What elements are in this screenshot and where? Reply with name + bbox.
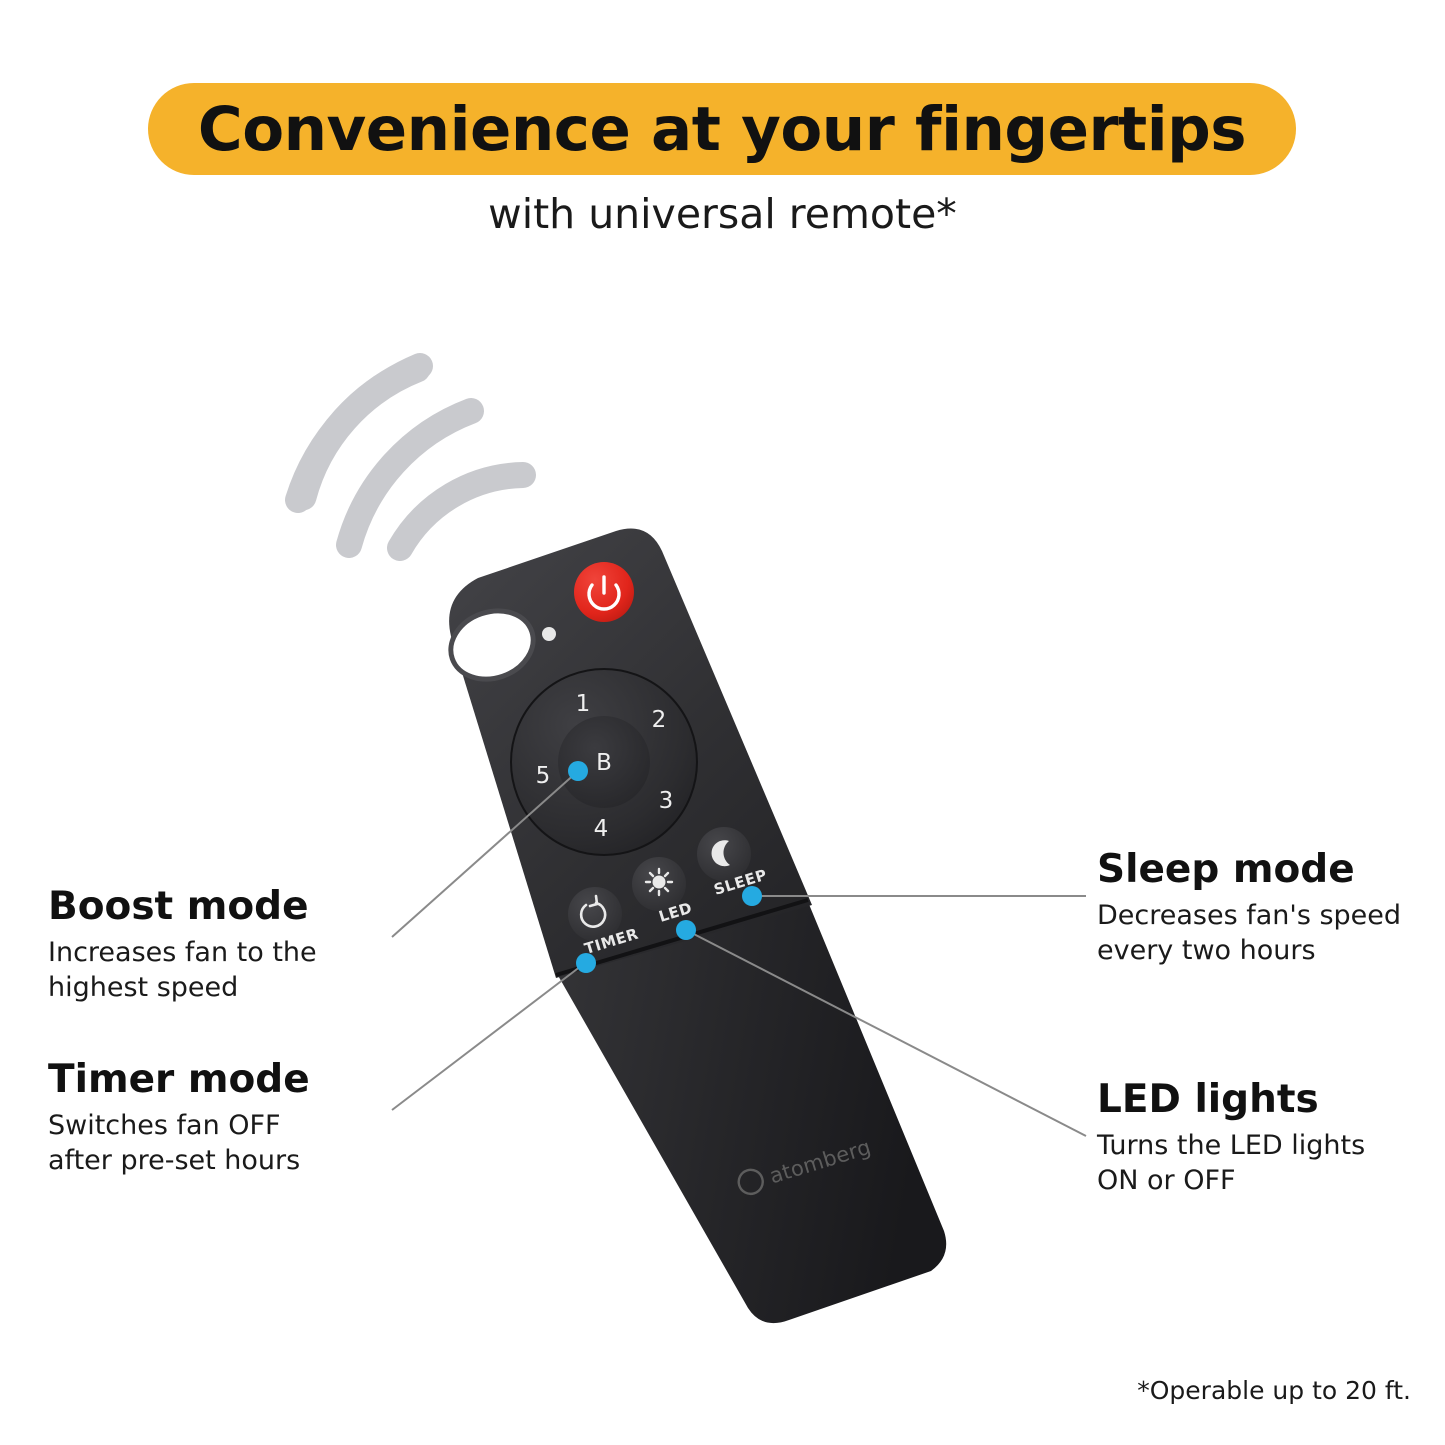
footnote: *Operable up to 20 ft.: [1137, 1376, 1411, 1405]
callout-boost-desc-line2: highest speed: [48, 970, 317, 1006]
callout-sleep-desc-line1: Decreases fan's speed: [1097, 898, 1401, 934]
callout-sleep-desc-line2: every two hours: [1097, 933, 1401, 969]
speed-label-1: 1: [576, 691, 591, 717]
speed-label-2: 2: [652, 707, 667, 733]
status-led-indicator: [542, 627, 556, 641]
callout-timer-desc-line1: Switches fan OFF: [48, 1108, 310, 1144]
remote-illustration: B 1 2 3 4 5 TIMER LED: [0, 0, 1445, 1445]
speed-label-3: 3: [659, 788, 674, 814]
callout-boost-mode: Boost mode Increases fan to the highest …: [48, 885, 317, 1006]
callout-led-title: LED lights: [1097, 1078, 1365, 1122]
speed-label-4: 4: [594, 816, 609, 842]
callout-boost-desc-line1: Increases fan to the: [48, 935, 317, 971]
callout-timer-title: Timer mode: [48, 1058, 310, 1102]
marker-boost: [568, 761, 588, 781]
callout-led-desc-line1: Turns the LED lights: [1097, 1128, 1365, 1164]
callout-led-lights: LED lights Turns the LED lights ON or OF…: [1097, 1078, 1365, 1199]
callout-timer-mode: Timer mode Switches fan OFF after pre-se…: [48, 1058, 310, 1179]
callout-sleep-mode: Sleep mode Decreases fan's speed every t…: [1097, 848, 1401, 969]
callout-led-desc-line2: ON or OFF: [1097, 1163, 1365, 1199]
marker-led: [676, 920, 696, 940]
infographic-page: Convenience at your fingertips with univ…: [0, 0, 1445, 1445]
callout-sleep-title: Sleep mode: [1097, 848, 1401, 892]
sun-icon: [646, 869, 672, 895]
marker-timer: [576, 953, 596, 973]
callout-boost-title: Boost mode: [48, 885, 317, 929]
speed-label-5: 5: [536, 763, 551, 789]
callout-timer-desc-line2: after pre-set hours: [48, 1143, 310, 1179]
marker-sleep: [742, 886, 762, 906]
boost-center-label: B: [596, 750, 612, 776]
